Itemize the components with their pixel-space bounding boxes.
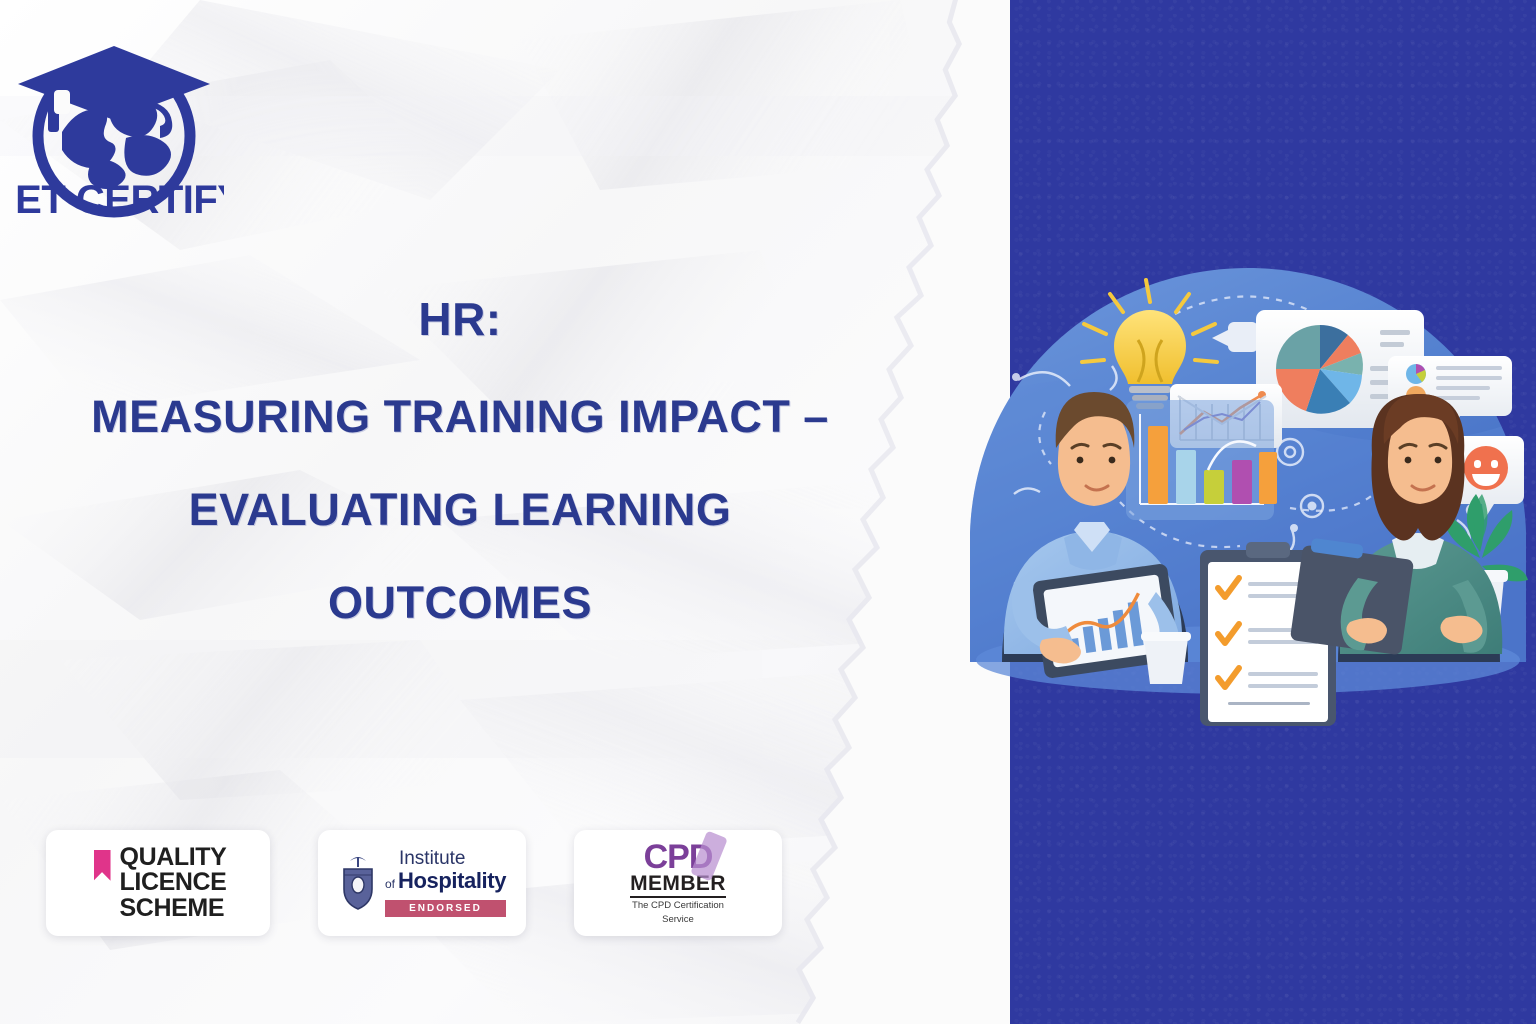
- cpd-title: CPD: [644, 841, 713, 873]
- ih-endorsed-ribbon: ENDORSED: [385, 900, 506, 917]
- qls-line-1: QUALITY: [120, 845, 227, 871]
- badge-quality-licence-scheme[interactable]: QUALITY LICENCE SCHEME: [46, 830, 270, 936]
- bar-4: [1232, 460, 1252, 504]
- bar-3: [1204, 470, 1224, 504]
- page-title: HR: MEASURING TRAINING IMPACT – EVALUATI…: [0, 296, 920, 625]
- title-line-1: HR:: [0, 296, 920, 342]
- title-line-3: EVALUATING LEARNING: [0, 487, 920, 532]
- poster-canvas: GET CERTIFY HR: MEASURING TRAINING IMPAC…: [0, 0, 1536, 1024]
- qls-line-2: LICENCE: [120, 870, 227, 896]
- cpd-sub-line-2: Service: [630, 915, 726, 926]
- bookmark-icon: [94, 850, 111, 881]
- crest-icon: [338, 853, 378, 913]
- cpd-sub-line-1: The CPD Certification: [630, 901, 726, 912]
- title-line-4: OUTCOMES: [0, 580, 920, 625]
- bar-5: [1259, 452, 1277, 504]
- title-line-2: MEASURING TRAINING IMPACT –: [0, 394, 920, 439]
- accreditation-badges: QUALITY LICENCE SCHEME Institute: [46, 830, 782, 936]
- badge-institute-of-hospitality[interactable]: Institute of Hospitality ENDORSED: [318, 830, 526, 936]
- bar-1: [1148, 426, 1168, 504]
- qls-line-3: SCHEME: [120, 896, 227, 922]
- graduation-cap-globe-icon: GET CERTIFY: [14, 28, 224, 228]
- bar-2: [1176, 450, 1196, 504]
- pie-chart: [1276, 325, 1363, 414]
- ih-line-1: Institute: [399, 849, 506, 868]
- badge-cpd-member[interactable]: CPD MEMBER The CPD Certification Service: [574, 830, 782, 936]
- bar-chart-panel: [1126, 400, 1277, 520]
- brand-logo[interactable]: GET CERTIFY: [14, 28, 224, 228]
- training-evaluation-illustration: [960, 262, 1536, 732]
- ih-line-2: Hospitality: [398, 868, 506, 894]
- ih-of: of: [385, 877, 395, 891]
- logo-wordmark: GET CERTIFY: [14, 178, 224, 222]
